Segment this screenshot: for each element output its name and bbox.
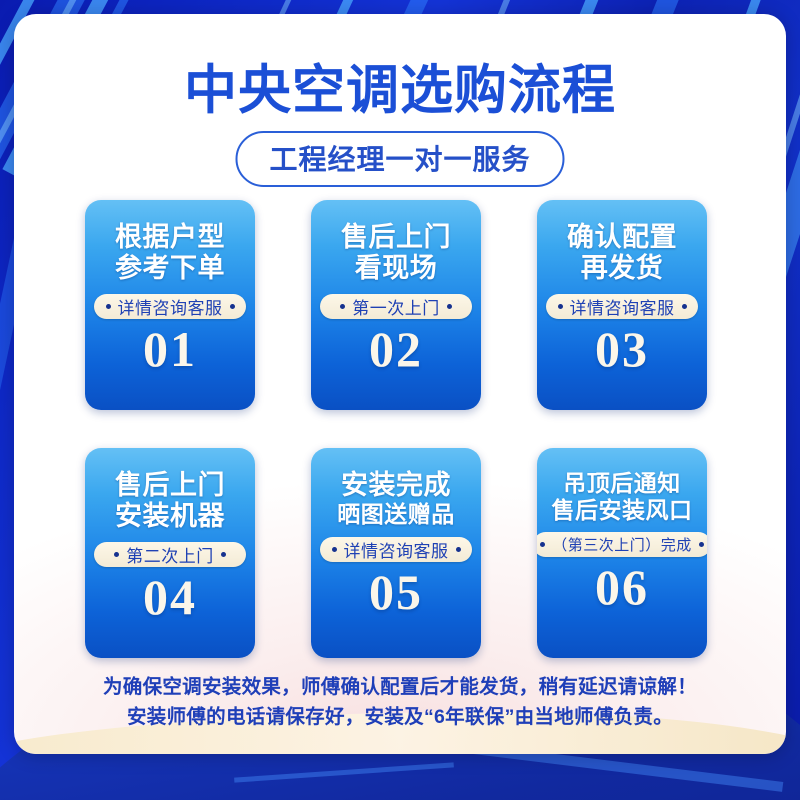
step-title-line2: 再发货 (581, 253, 664, 284)
steps-grid: 根据户型 参考下单 详情咨询客服 01 售后上门 看现场 第一次上门 02 确认… (85, 200, 715, 658)
step-badge: 详情咨询客服 (94, 294, 246, 319)
badge-dot-left-icon (558, 304, 563, 309)
step-title-line1: 吊顶后通知 (563, 470, 681, 497)
badge-dot-left-icon (340, 304, 345, 309)
badge-dot-right-icon (447, 304, 452, 309)
step-title-line2: 参考下单 (115, 253, 225, 284)
step-badge: （第三次上门）完成 (537, 532, 707, 557)
step-number: 03 (595, 323, 649, 376)
badge-dot-left-icon (106, 304, 111, 309)
step-title-line2: 售后安装风口 (552, 497, 693, 524)
subtitle-text: 工程经理一对一服务 (269, 144, 530, 175)
step-title-line2: 看现场 (355, 253, 438, 284)
step-title-line2: 安装机器 (115, 501, 225, 532)
badge-dot-left-icon (114, 552, 119, 557)
step-card-05[interactable]: 安装完成 晒图送赠品 详情咨询客服 05 (311, 448, 481, 658)
step-card-04[interactable]: 售后上门 安装机器 第二次上门 04 (85, 448, 255, 658)
step-title-line1: 根据户型 (115, 222, 225, 253)
step-number: 06 (595, 561, 649, 614)
step-number: 01 (143, 323, 197, 376)
step-badge-label: （第三次上门）完成 (552, 534, 692, 555)
step-badge-label: 详情咨询客服 (570, 294, 675, 319)
step-card-06[interactable]: 吊顶后通知 售后安装风口 （第三次上门）完成 06 (537, 448, 707, 658)
step-number: 04 (143, 571, 197, 624)
badge-dot-right-icon (230, 304, 235, 309)
step-badge: 第一次上门 (320, 294, 472, 319)
step-badge-label: 详情咨询客服 (118, 294, 223, 319)
step-card-02[interactable]: 售后上门 看现场 第一次上门 02 (311, 200, 481, 410)
step-number: 02 (369, 323, 423, 376)
badge-dot-left-icon (540, 542, 545, 547)
badge-dot-right-icon (699, 542, 704, 547)
step-card-03[interactable]: 确认配置 再发货 详情咨询客服 03 (537, 200, 707, 410)
footer-line-2: 安装师傅的电话请保存好，安装及“6年联保”由当地师傅负责。 (0, 702, 800, 732)
step-title-line1: 安装完成 (341, 470, 451, 501)
badge-dot-right-icon (221, 552, 226, 557)
badge-dot-right-icon (456, 547, 461, 552)
step-title-line1: 确认配置 (567, 222, 677, 253)
footer-note: 为确保空调安装效果，师傅确认配置后才能发货，稍有延迟请谅解！ 安装师傅的电话请保… (0, 672, 800, 732)
swoosh-streak (234, 762, 454, 782)
step-number: 05 (369, 566, 423, 619)
step-badge: 详情咨询客服 (320, 537, 472, 562)
badge-dot-right-icon (682, 304, 687, 309)
step-card-01[interactable]: 根据户型 参考下单 详情咨询客服 01 (85, 200, 255, 410)
step-badge-label: 详情咨询客服 (344, 537, 449, 562)
step-badge: 详情咨询客服 (546, 294, 698, 319)
step-badge: 第二次上门 (94, 542, 246, 567)
step-title-line2: 晒图送赠品 (337, 501, 455, 528)
footer-line-1: 为确保空调安装效果，师傅确认配置后才能发货，稍有延迟请谅解！ (0, 672, 800, 702)
step-title-line1: 售后上门 (341, 222, 451, 253)
step-badge-label: 第二次上门 (126, 542, 214, 567)
page-title: 中央空调选购流程 (0, 48, 800, 124)
step-badge-label: 第一次上门 (352, 294, 440, 319)
subtitle-pill: 工程经理一对一服务 (235, 131, 564, 187)
badge-dot-left-icon (332, 547, 337, 552)
step-title-line1: 售后上门 (115, 470, 225, 501)
